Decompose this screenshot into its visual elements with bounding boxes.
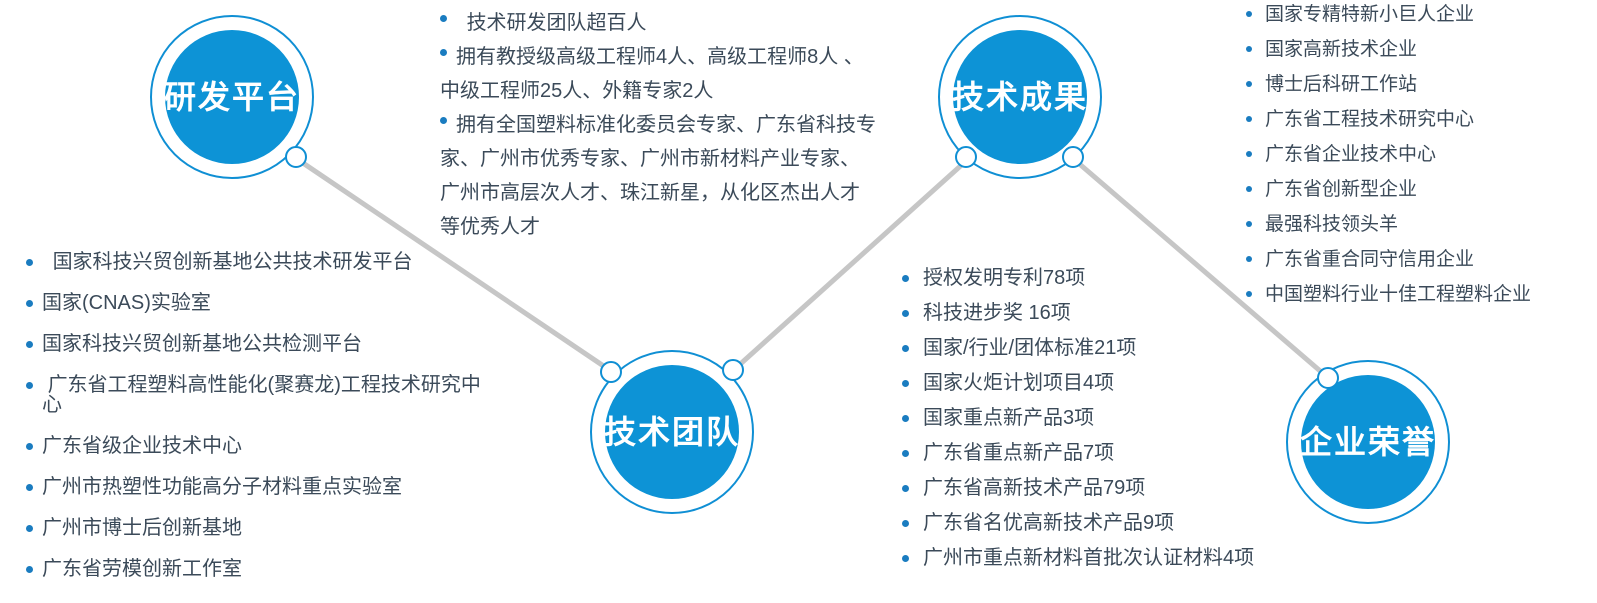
junction-research-platform (285, 146, 307, 168)
list-item-text: 拥有全国塑料标准化委员会专家、广东省科技专 (456, 108, 902, 142)
text-block-platform: 国家科技兴贸创新基地公共技术研发平台 国家(CNAS)实验室 国家科技兴贸创新基… (26, 252, 496, 600)
list-item-text: 国家高新技术企业 (1265, 40, 1594, 59)
list-item: 广东省工程塑料高性能化(聚赛龙)工程技术研究中心 (26, 375, 496, 415)
list-item: 国家/行业/团体标准21项 (902, 338, 1282, 358)
list-item-text: 国家科技兴贸创新基地公共检测平台 (42, 334, 496, 354)
junction-tech-achievements-right (1062, 146, 1084, 168)
text-block-rd-team: 技术研发团队超百人 拥有教授级高级工程师4人、高级工程师8人 、 中级工程师25… (440, 6, 902, 244)
bullet-dot-icon (1246, 81, 1252, 87)
list-item: 授权发明专利78项 (902, 268, 1282, 288)
bullet-dot-icon (26, 566, 33, 573)
bullet-dot-icon (902, 380, 909, 387)
list-item: 国家火炬计划项目4项 (902, 373, 1282, 393)
list-item: 广州市热塑性功能高分子材料重点实验室 (26, 477, 496, 497)
list-item: 博士后科研工作站 (1246, 75, 1594, 94)
list-item-text: 技术研发团队超百人 (461, 6, 902, 40)
list-item: 科技进步奖 16项 (902, 303, 1282, 323)
bullet-dot-icon (1246, 291, 1252, 297)
bullet-dot-icon (1246, 256, 1252, 262)
list-item-text: 中国塑料行业十佳工程塑料企业 (1265, 285, 1594, 304)
text-block-honors: 国家专精特新小巨人企业 国家高新技术企业 博士后科研工作站 广东省工程技术研究中… (1246, 5, 1594, 320)
list-item: 国家(CNAS)实验室 (26, 293, 496, 313)
list-item-continuation: 广州市高层次人才、珠江新星，从化区杰出人才 (440, 176, 902, 210)
bullet-dot-icon (902, 310, 909, 317)
bullet-dot-icon (26, 484, 33, 491)
list-item: 技术研发团队超百人 (440, 6, 902, 40)
bullet-dot-icon (902, 555, 909, 562)
list-item-text: 广东省劳模创新工作室 (42, 559, 496, 579)
list-item-continuation: 家、广州市优秀专家、广州市新材料产业专家、 (440, 142, 902, 176)
bullet-dot-icon (440, 49, 447, 56)
list-item: 广东省工程技术研究中心 (1246, 110, 1594, 129)
list-item-text: 广东省级企业技术中心 (42, 436, 496, 456)
list-item-text: 国家(CNAS)实验室 (42, 293, 496, 313)
list-item-text: 广东省高新技术产品79项 (923, 478, 1282, 498)
list-item-text: 广东省工程塑料高性能化(聚赛龙)工程技术研究中心 (42, 375, 496, 415)
bullet-dot-icon (440, 117, 447, 124)
list-item-text: 广州市重点新材料首批次认证材料4项 (923, 548, 1282, 568)
bullet-dot-icon (902, 345, 909, 352)
list-item-text: 拥有教授级高级工程师4人、高级工程师8人 、 (456, 40, 902, 74)
node-tech-achievements[interactable]: 技术成果 (953, 30, 1087, 164)
list-item: 中国塑料行业十佳工程塑料企业 (1246, 285, 1594, 304)
list-item: 广东省高新技术产品79项 (902, 478, 1282, 498)
list-item-text: 广东省企业技术中心 (1265, 145, 1594, 164)
bullet-dot-icon (902, 485, 909, 492)
list-item-text: 国家/行业/团体标准21项 (923, 338, 1282, 358)
list-item: 广州市重点新材料首批次认证材料4项 (902, 548, 1282, 568)
list-item-text: 广东省重合同守信用企业 (1265, 250, 1594, 269)
list-item: 广东省劳模创新工作室 (26, 559, 496, 579)
list-item-text: 国家专精特新小巨人企业 (1265, 5, 1594, 24)
junction-tech-team-left (600, 361, 622, 383)
bullet-dot-icon (26, 443, 33, 450)
list-item: 拥有教授级高级工程师4人、高级工程师8人 、 (440, 40, 902, 74)
list-item: 广东省名优高新技术产品9项 (902, 513, 1282, 533)
list-item-text: 广州市博士后创新基地 (42, 518, 496, 538)
list-item-continuation: 中级工程师25人、外籍专家2人 (440, 74, 902, 108)
list-item-text: 广东省重点新产品7项 (923, 443, 1282, 463)
bullet-dot-icon (1246, 116, 1252, 122)
bullet-dot-icon (1246, 46, 1252, 52)
list-item: 国家高新技术企业 (1246, 40, 1594, 59)
bullet-dot-icon (1246, 11, 1252, 17)
list-item-text: 博士后科研工作站 (1265, 75, 1594, 94)
diagram-canvas: 研发平台 技术团队 技术成果 企业荣誉 技术研发团队超百人 拥有教授级高级工程师… (0, 0, 1597, 603)
list-item-text: 广州市热塑性功能高分子材料重点实验室 (42, 477, 496, 497)
list-item: 广东省创新型企业 (1246, 180, 1594, 199)
text-block-achievements: 授权发明专利78项 科技进步奖 16项 国家/行业/团体标准21项 国家火炬计划… (902, 268, 1282, 583)
junction-enterprise-honors (1317, 367, 1339, 389)
node-tech-team[interactable]: 技术团队 (605, 365, 739, 499)
bullet-dot-icon (902, 450, 909, 457)
list-item: 广东省重点新产品7项 (902, 443, 1282, 463)
junction-tech-achievements-left (955, 146, 977, 168)
node-research-platform[interactable]: 研发平台 (165, 30, 299, 164)
bullet-dot-icon (440, 15, 447, 22)
bullet-dot-icon (26, 341, 33, 348)
node-label-tech-achievements: 技术成果 (952, 81, 1088, 113)
list-item: 广州市博士后创新基地 (26, 518, 496, 538)
node-label-enterprise-honors: 企业荣誉 (1300, 426, 1436, 458)
list-item: 广东省企业技术中心 (1246, 145, 1594, 164)
list-item-text: 国家科技兴贸创新基地公共技术研发平台 (47, 252, 496, 272)
bullet-dot-icon (26, 525, 33, 532)
list-item: 广东省级企业技术中心 (26, 436, 496, 456)
list-item: 广东省重合同守信用企业 (1246, 250, 1594, 269)
list-item-continuation: 等优秀人才 (440, 210, 902, 244)
bullet-dot-icon (902, 275, 909, 282)
list-item-text: 广东省工程技术研究中心 (1265, 110, 1594, 129)
list-item: 拥有全国塑料标准化委员会专家、广东省科技专 (440, 108, 902, 142)
list-item-text: 授权发明专利78项 (923, 268, 1282, 288)
list-item: 国家重点新产品3项 (902, 408, 1282, 428)
bullet-dot-icon (1246, 151, 1252, 157)
list-item-text: 国家火炬计划项目4项 (923, 373, 1282, 393)
bullet-dot-icon (1246, 186, 1252, 192)
bullet-dot-icon (26, 259, 33, 266)
node-enterprise-honors[interactable]: 企业荣誉 (1301, 375, 1435, 509)
bullet-dot-icon (26, 300, 33, 307)
list-item-text: 最强科技领头羊 (1265, 215, 1594, 234)
list-item-text: 科技进步奖 16项 (923, 303, 1282, 323)
node-label-tech-team: 技术团队 (604, 416, 740, 448)
list-item-text: 广东省名优高新技术产品9项 (923, 513, 1282, 533)
bullet-dot-icon (26, 382, 33, 389)
list-item-text: 广东省创新型企业 (1265, 180, 1594, 199)
bullet-dot-icon (902, 520, 909, 527)
list-item: 国家科技兴贸创新基地公共技术研发平台 (26, 252, 496, 272)
node-label-research-platform: 研发平台 (164, 81, 300, 113)
list-item: 国家科技兴贸创新基地公共检测平台 (26, 334, 496, 354)
bullet-dot-icon (902, 415, 909, 422)
list-item-text: 国家重点新产品3项 (923, 408, 1282, 428)
list-item: 最强科技领头羊 (1246, 215, 1594, 234)
list-item: 国家专精特新小巨人企业 (1246, 5, 1594, 24)
junction-tech-team-right (722, 359, 744, 381)
bullet-dot-icon (1246, 221, 1252, 227)
